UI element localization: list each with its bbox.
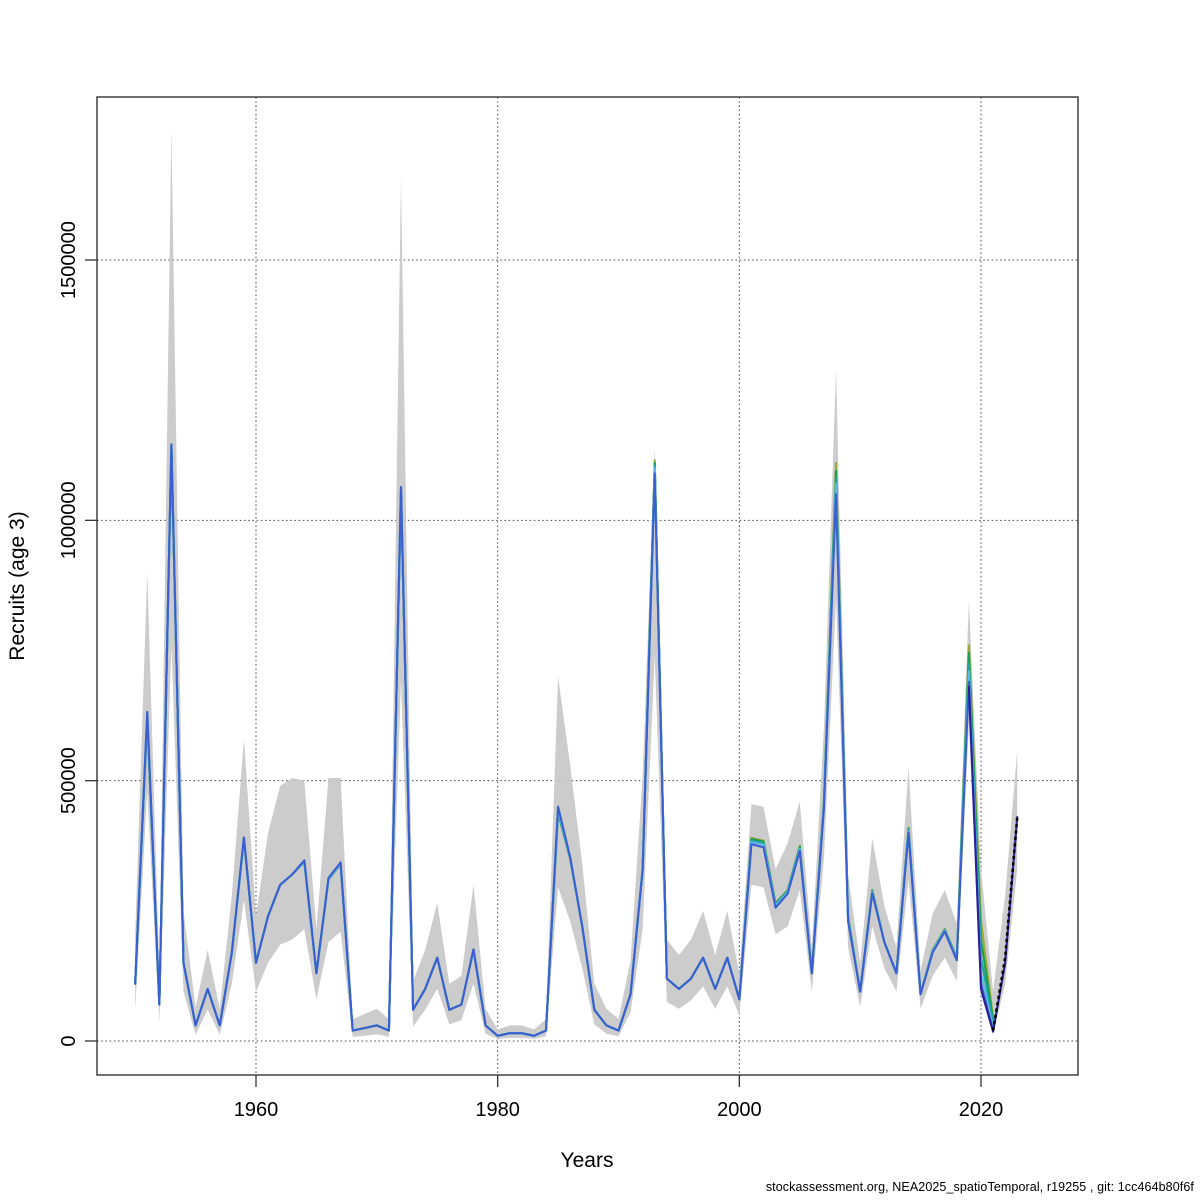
recruits-plot-container: 1960198020002020050000010000001500000 Ye…	[0, 0, 1200, 1200]
x-tick-label: 2020	[959, 1099, 1004, 1121]
y-tick-label: 0	[58, 1035, 80, 1046]
recruits-time-series-chart: 1960198020002020050000010000001500000 Ye…	[0, 0, 1200, 1200]
y-tick-label: 1000000	[58, 481, 80, 559]
footer-attribution: stockassessment.org, NEA2025_spatioTempo…	[766, 1180, 1194, 1194]
y-axis-label: Recruits (age 3)	[6, 511, 29, 660]
x-tick-label: 1980	[475, 1099, 520, 1121]
x-axis-label: Years	[561, 1149, 614, 1172]
x-tick-label: 1960	[234, 1099, 279, 1121]
x-tick-label: 2000	[717, 1099, 762, 1121]
y-tick-label: 1500000	[58, 221, 80, 299]
y-tick-label: 500000	[58, 747, 80, 814]
